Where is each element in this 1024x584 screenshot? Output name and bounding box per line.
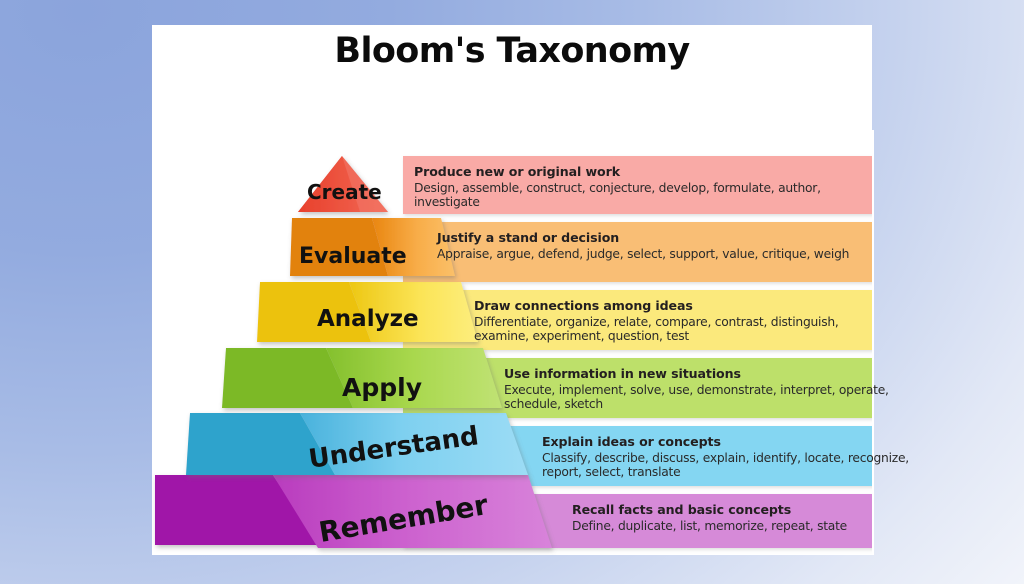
band-text-analyze: Draw connections among ideas Differentia… bbox=[474, 299, 894, 343]
create-header: Produce new or original work bbox=[414, 165, 854, 180]
tier-label-create: Create bbox=[307, 180, 382, 204]
analyze-header: Draw connections among ideas bbox=[474, 299, 894, 314]
band-text-create: Produce new or original work Design, ass… bbox=[414, 165, 854, 209]
understand-verbs: Classify, describe, discuss, explain, id… bbox=[542, 451, 932, 480]
slide-content-card: Bloom's Taxonomy bbox=[152, 25, 872, 555]
tier-label-analyze: Analyze bbox=[317, 306, 419, 332]
band-text-apply: Use information in new situations Execut… bbox=[504, 367, 904, 411]
understand-header: Explain ideas or concepts bbox=[542, 435, 932, 450]
evaluate-verbs: Appraise, argue, defend, judge, select, … bbox=[437, 247, 862, 261]
band-text-understand: Explain ideas or concepts Classify, desc… bbox=[542, 435, 932, 479]
remember-header: Recall facts and basic concepts bbox=[572, 503, 942, 518]
evaluate-header: Justify a stand or decision bbox=[437, 231, 862, 246]
tier-label-apply: Apply bbox=[342, 373, 422, 402]
remember-verbs: Define, duplicate, list, memorize, repea… bbox=[572, 519, 942, 533]
analyze-verbs: Differentiate, organize, relate, compare… bbox=[474, 315, 894, 344]
apply-header: Use information in new situations bbox=[504, 367, 904, 382]
tier-label-evaluate: Evaluate bbox=[299, 244, 407, 269]
page-title: Bloom's Taxonomy bbox=[152, 31, 872, 71]
create-verbs: Design, assemble, construct, conjecture,… bbox=[414, 181, 854, 210]
apply-verbs: Execute, implement, solve, use, demonstr… bbox=[504, 383, 904, 412]
band-text-evaluate: Justify a stand or decision Appraise, ar… bbox=[437, 231, 862, 261]
band-text-remember: Recall facts and basic concepts Define, … bbox=[572, 503, 942, 533]
